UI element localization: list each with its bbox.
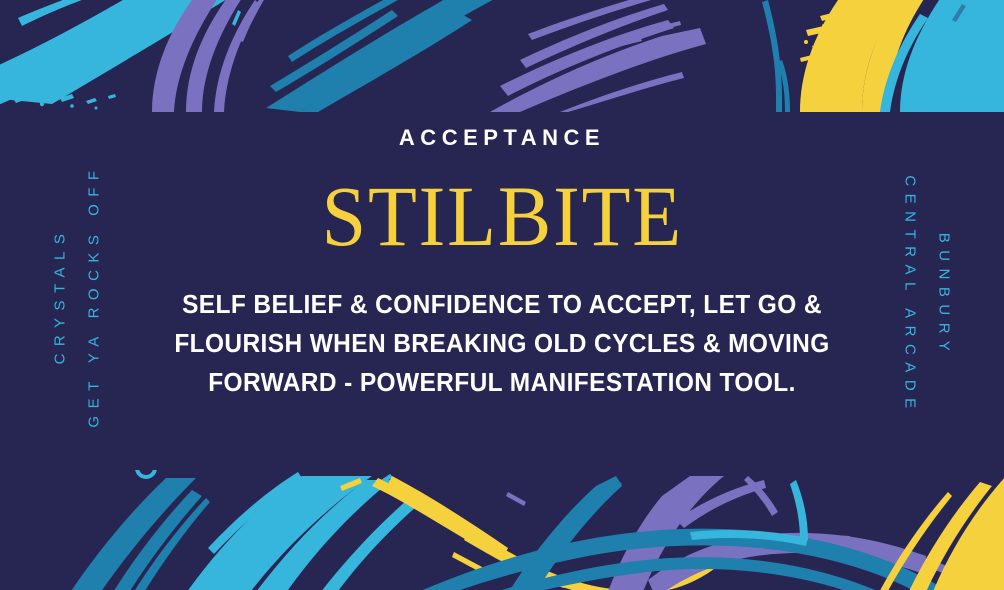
left-rail-outer-column: GET YA ROCKS OFF <box>78 112 110 478</box>
brand-name-label: GET YA ROCKS OFF <box>87 163 102 427</box>
top-strokes <box>0 0 1004 112</box>
crystals-label: CRYSTALS <box>53 226 68 364</box>
bottom-strokes <box>52 459 1004 590</box>
right-rail-outer-column: CENTRAL ARCADE <box>894 112 926 478</box>
right-vertical-rail: CENTRAL ARCADE BUNBURY <box>890 112 964 478</box>
eyebrow-label: ACCEPTANCE <box>399 127 605 149</box>
left-rail-inner-column: CRYSTALS <box>44 112 76 478</box>
left-vertical-rail: CRYSTALS GET YA ROCKS OFF <box>40 112 114 478</box>
location-arcade-label: CENTRAL ARCADE <box>903 175 918 415</box>
description-text: SELF BELIEF & CONFIDENCE TO ACCEPT, LET … <box>156 286 847 402</box>
location-city-label: BUNBURY <box>937 232 952 358</box>
right-rail-inner-column: BUNBURY <box>928 112 960 478</box>
page-title: STILBITE <box>321 177 682 256</box>
card-content: ACCEPTANCE STILBITE SELF BELIEF & CONFID… <box>128 112 876 478</box>
crystal-info-card: CRYSTALS GET YA ROCKS OFF ACCEPTANCE STI… <box>0 0 1004 590</box>
